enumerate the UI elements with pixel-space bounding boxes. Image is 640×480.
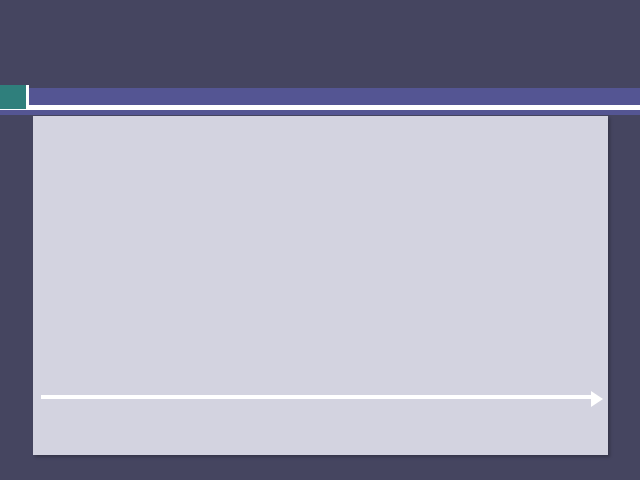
timeline-axis-arrow bbox=[591, 391, 603, 407]
header-rule-primary bbox=[0, 88, 640, 105]
slide-number-badge bbox=[0, 85, 29, 109]
header-rule-secondary bbox=[0, 110, 640, 115]
timeline-axis bbox=[41, 395, 593, 399]
timeline-chart-panel bbox=[33, 116, 608, 455]
